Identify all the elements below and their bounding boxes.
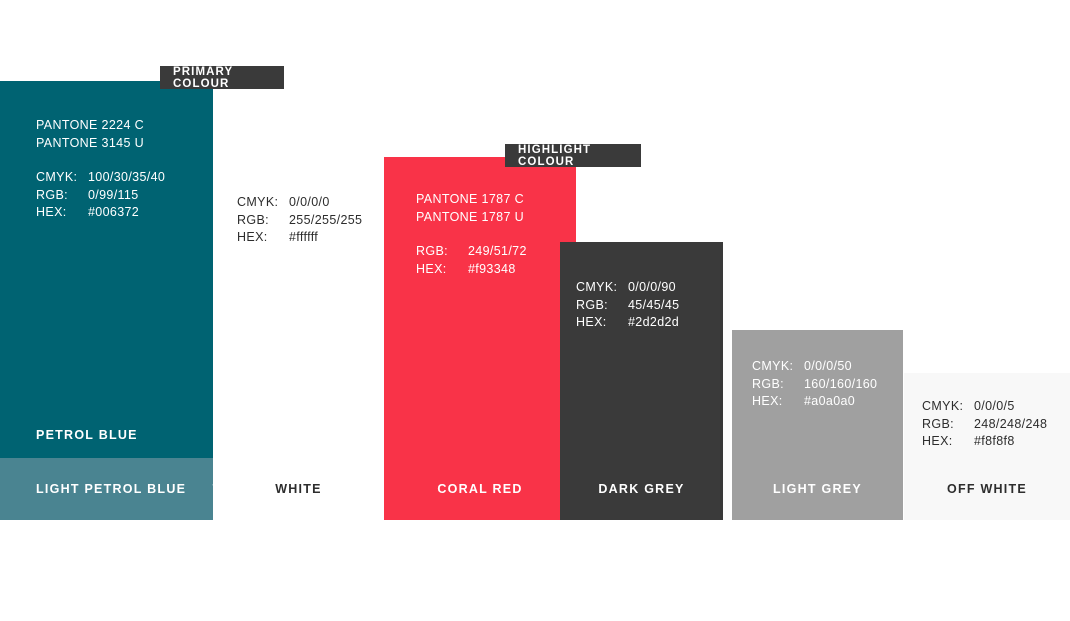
swatch-specs-light-grey: CMYK: 0/0/0/50 RGB: 160/160/160 HEX: #a0…	[752, 358, 877, 411]
swatch-specs-petrol-blue: PANTONE 2224 C PANTONE 3145 U CMYK: 100/…	[36, 117, 165, 222]
primary-colour-tag-label: PRIMARY COLOUR	[173, 66, 271, 90]
swatch-off-white[interactable]: CMYK: 0/0/0/5 RGB: 248/248/248 HEX: #f8f…	[904, 373, 1070, 520]
hex-value: #f8f8f8	[974, 433, 1015, 451]
swatch-coral-red[interactable]: PANTONE 1787 C PANTONE 1787 U RGB: 249/5…	[384, 157, 576, 520]
swatch-specs-dark-grey: CMYK: 0/0/0/90 RGB: 45/45/45 HEX: #2d2d2…	[576, 279, 679, 332]
hex-row-white: HEX: #ffffff	[237, 229, 362, 247]
hex-label: HEX:	[922, 433, 974, 451]
cmyk-label: CMYK:	[576, 279, 628, 297]
cmyk-row-white: CMYK: 0/0/0/0	[237, 194, 362, 212]
hex-label: HEX:	[416, 261, 468, 279]
swatch-name-label-white: WHITE	[275, 482, 322, 496]
pantone-uncoated-petrol-blue: PANTONE 3145 U	[36, 135, 165, 153]
hex-value: #f93348	[468, 261, 516, 279]
swatch-dark-grey[interactable]: CMYK: 0/0/0/90 RGB: 45/45/45 HEX: #2d2d2…	[560, 242, 723, 520]
swatch-specs-off-white: CMYK: 0/0/0/5 RGB: 248/248/248 HEX: #f8f…	[922, 398, 1047, 451]
cmyk-row-light-grey: CMYK: 0/0/0/50	[752, 358, 877, 376]
swatch-specs-white: CMYK: 0/0/0/0 RGB: 255/255/255 HEX: #fff…	[237, 194, 362, 247]
hex-row-off-white: HEX: #f8f8f8	[922, 433, 1047, 451]
cmyk-row-dark-grey: CMYK: 0/0/0/90	[576, 279, 679, 297]
rgb-label: RGB:	[576, 297, 628, 315]
hex-row-coral-red: HEX: #f93348	[416, 261, 527, 279]
rgb-row-light-grey: RGB: 160/160/160	[752, 376, 877, 394]
rgb-value: 45/45/45	[628, 297, 679, 315]
swatch-name-label-light-grey: LIGHT GREY	[773, 482, 862, 496]
pantone-coated-petrol-blue: PANTONE 2224 C	[36, 117, 165, 135]
rgb-row-dark-grey: RGB: 45/45/45	[576, 297, 679, 315]
hex-row-light-grey: HEX: #a0a0a0	[752, 393, 877, 411]
swatch-name-petrol-blue: PETROL BLUE	[36, 428, 138, 442]
pantone-uncoated-coral-red: PANTONE 1787 U	[416, 209, 527, 227]
colour-palette-board: PANTONE 2224 C PANTONE 3145 U CMYK: 100/…	[0, 0, 1070, 621]
swatch-name-white: WHITE	[213, 458, 384, 520]
cmyk-row-off-white: CMYK: 0/0/0/5	[922, 398, 1047, 416]
rgb-row-white: RGB: 255/255/255	[237, 212, 362, 230]
highlight-colour-tag: HIGHLIGHT COLOUR	[505, 144, 641, 167]
cmyk-value: 100/30/35/40	[88, 169, 165, 187]
hex-label: HEX:	[752, 393, 804, 411]
hex-row-petrol-blue: HEX: #006372	[36, 204, 165, 222]
rgb-value: 249/51/72	[468, 243, 527, 261]
cmyk-label: CMYK:	[752, 358, 804, 376]
cmyk-label: CMYK:	[237, 194, 289, 212]
swatch-light-grey[interactable]: CMYK: 0/0/0/50 RGB: 160/160/160 HEX: #a0…	[732, 330, 903, 520]
rgb-label: RGB:	[36, 187, 88, 205]
rgb-value: 255/255/255	[289, 212, 362, 230]
rgb-label: RGB:	[237, 212, 289, 230]
swatch-name-label-dark-grey: DARK GREY	[598, 482, 684, 496]
hex-row-dark-grey: HEX: #2d2d2d	[576, 314, 679, 332]
cmyk-row-petrol-blue: CMYK: 100/30/35/40	[36, 169, 165, 187]
rgb-row-off-white: RGB: 248/248/248	[922, 416, 1047, 434]
hex-label: HEX:	[36, 204, 88, 222]
tint-name-light-petrol-blue: LIGHT PETROL BLUE	[36, 482, 186, 496]
primary-colour-tag: PRIMARY COLOUR	[160, 66, 284, 89]
hex-value: #a0a0a0	[804, 393, 855, 411]
cmyk-value: 0/0/0/5	[974, 398, 1015, 416]
swatch-name-dark-grey: DARK GREY	[560, 458, 723, 520]
rgb-value: 0/99/115	[88, 187, 139, 205]
rgb-row-petrol-blue: RGB: 0/99/115	[36, 187, 165, 205]
highlight-colour-tag-label: HIGHLIGHT COLOUR	[518, 144, 628, 168]
swatch-name-coral-red: CORAL RED	[384, 458, 576, 520]
rgb-label: RGB:	[752, 376, 804, 394]
hex-label: HEX:	[237, 229, 289, 247]
rgb-label: RGB:	[922, 416, 974, 434]
swatch-white[interactable]: CMYK: 0/0/0/0 RGB: 255/255/255 HEX: #fff…	[213, 155, 384, 520]
cmyk-label: CMYK:	[36, 169, 88, 187]
cmyk-label: CMYK:	[922, 398, 974, 416]
cmyk-value: 0/0/0/50	[804, 358, 852, 376]
hex-label: HEX:	[576, 314, 628, 332]
swatch-name-off-white: OFF WHITE	[904, 458, 1070, 520]
rgb-row-coral-red: RGB: 249/51/72	[416, 243, 527, 261]
pantone-coated-coral-red: PANTONE 1787 C	[416, 191, 527, 209]
cmyk-value: 0/0/0/90	[628, 279, 676, 297]
rgb-value: 248/248/248	[974, 416, 1047, 434]
swatch-name-light-grey: LIGHT GREY	[732, 458, 903, 520]
rgb-label: RGB:	[416, 243, 468, 261]
hex-value: #2d2d2d	[628, 314, 679, 332]
swatch-petrol-blue[interactable]: PANTONE 2224 C PANTONE 3145 U CMYK: 100/…	[0, 81, 213, 520]
hex-value: #006372	[88, 204, 139, 222]
swatch-name-label-coral-red: CORAL RED	[437, 482, 522, 496]
tint-band-light-petrol-blue[interactable]: LIGHT PETROL BLUE 75%	[0, 458, 249, 520]
swatch-specs-coral-red: PANTONE 1787 C PANTONE 1787 U RGB: 249/5…	[416, 191, 527, 278]
cmyk-value: 0/0/0/0	[289, 194, 330, 212]
swatch-name-label-off-white: OFF WHITE	[947, 482, 1027, 496]
rgb-value: 160/160/160	[804, 376, 877, 394]
hex-value: #ffffff	[289, 229, 318, 247]
